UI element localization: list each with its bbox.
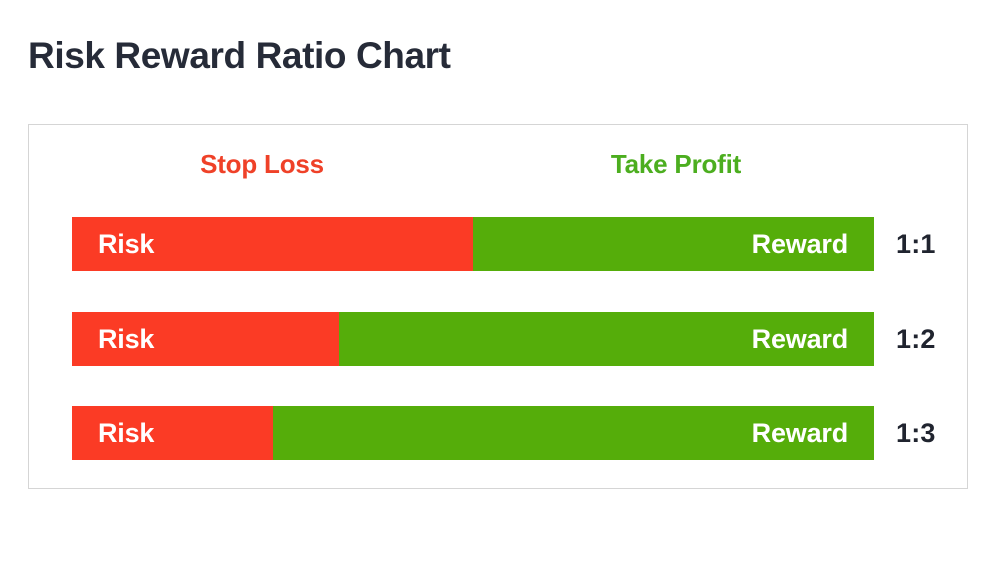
- bar-segment-risk: Risk: [72, 217, 473, 271]
- ratio-label: 1:1: [896, 217, 936, 271]
- bar-row: Risk Reward 1:2: [72, 312, 969, 366]
- chart-card: Stop Loss Take Profit Risk Reward 1:1 Ri…: [28, 124, 968, 489]
- bar-row: Risk Reward 1:1: [72, 217, 969, 271]
- bar-track: Risk Reward: [72, 217, 874, 271]
- bar-segment-risk: Risk: [72, 312, 339, 366]
- bar-rows: Risk Reward 1:1 Risk Reward 1:2: [29, 125, 969, 490]
- ratio-label: 1:3: [896, 406, 936, 460]
- page-title: Risk Reward Ratio Chart: [28, 36, 451, 77]
- bar-label-risk: Risk: [98, 324, 154, 355]
- bar-segment-reward: Reward: [339, 312, 874, 366]
- bar-segment-risk: Risk: [72, 406, 273, 460]
- bar-segment-reward: Reward: [273, 406, 875, 460]
- bar-row: Risk Reward 1:3: [72, 406, 969, 460]
- bar-label-reward: Reward: [752, 418, 848, 449]
- ratio-label: 1:2: [896, 312, 936, 366]
- bar-track: Risk Reward: [72, 312, 874, 366]
- bar-label-risk: Risk: [98, 418, 154, 449]
- bar-segment-reward: Reward: [473, 217, 874, 271]
- bar-label-reward: Reward: [752, 324, 848, 355]
- bar-label-risk: Risk: [98, 229, 154, 260]
- bar-label-reward: Reward: [752, 229, 848, 260]
- bar-track: Risk Reward: [72, 406, 874, 460]
